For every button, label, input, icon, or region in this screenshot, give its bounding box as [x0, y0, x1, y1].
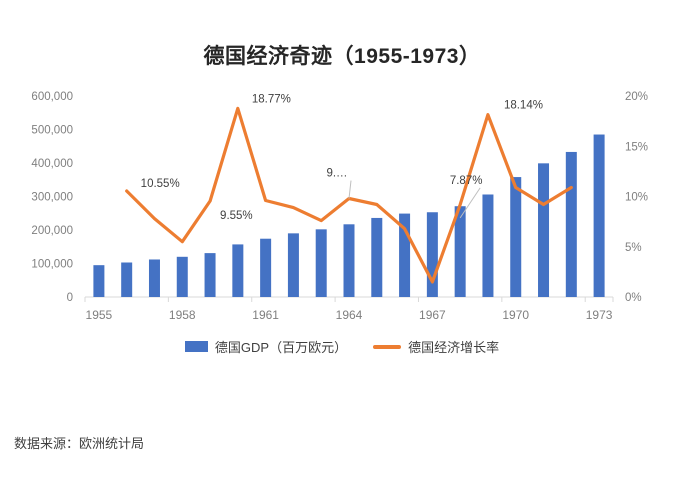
legend-item-growth-rate-label: 德国经济增长率 [408, 337, 499, 356]
bar-gdp-1970[interactable] [510, 177, 521, 297]
chart-container: 德国经济奇迹（1955-1973） 0100,000200,000300,000… [0, 0, 684, 483]
x-axis-tick-label: 1964 [336, 308, 363, 322]
y-axis-left-tick-label: 300,000 [31, 192, 73, 204]
x-axis-tick-label: 1973 [586, 308, 613, 322]
bar-gdp-1972[interactable] [566, 152, 577, 297]
bar-gdp-1958[interactable] [177, 257, 188, 297]
legend-item-gdp[interactable]: 德国GDP（百万欧元） [185, 337, 347, 356]
x-axis-tick-label: 1967 [419, 308, 446, 322]
data-label-1960: 18.77% [252, 93, 291, 105]
data-label-1964: 9.… [326, 168, 347, 180]
chart-legend: 德国GDP（百万欧元） 德国经济增长率 [0, 337, 684, 356]
x-axis-tick-label: 1961 [252, 308, 279, 322]
bar-gdp-1955[interactable] [93, 265, 104, 297]
y-axis-right-tick-label: 15% [625, 141, 648, 153]
bar-gdp-1959[interactable] [205, 253, 216, 297]
bar-gdp-1965[interactable] [371, 218, 382, 297]
y-axis-left: 0100,000200,000300,000400,000500,000600,… [31, 91, 73, 304]
data-label-leader-line [349, 181, 351, 199]
y-axis-right-tick-label: 5% [625, 242, 642, 254]
source-note: 数据来源：欧洲统计局 [14, 433, 144, 452]
y-axis-right-tick-label: 0% [625, 292, 642, 304]
bar-gdp-1962[interactable] [288, 233, 299, 297]
chart-plot-area: 0100,000200,000300,000400,000500,000600,… [0, 0, 684, 340]
bar-gdp-1973[interactable] [594, 135, 605, 297]
legend-line-swatch-icon [373, 345, 401, 349]
bar-gdp-1961[interactable] [260, 239, 271, 297]
bar-gdp-1960[interactable] [232, 244, 243, 297]
data-label-1969: 18.14% [504, 100, 543, 112]
bar-gdp-1967[interactable] [427, 212, 438, 297]
bar-gdp-1971[interactable] [538, 163, 549, 297]
x-axis-tick-label: 1958 [169, 308, 196, 322]
y-axis-left-tick-label: 600,000 [31, 91, 73, 103]
bar-gdp-1957[interactable] [149, 259, 160, 297]
bar-gdp-1963[interactable] [316, 229, 327, 297]
x-axis: 1955195819611964196719701973 [86, 308, 613, 322]
bar-gdp-1969[interactable] [482, 194, 493, 297]
y-axis-left-tick-label: 0 [67, 292, 73, 304]
y-axis-left-tick-label: 200,000 [31, 225, 73, 237]
axis-lines [85, 297, 613, 302]
data-label-1968: 7.87% [450, 175, 483, 187]
bar-gdp-1956[interactable] [121, 262, 132, 297]
y-axis-left-tick-label: 500,000 [31, 125, 73, 137]
y-axis-left-tick-label: 100,000 [31, 259, 73, 271]
legend-item-growth-rate[interactable]: 德国经济增长率 [373, 337, 499, 356]
y-axis-right-tick-label: 10% [625, 192, 648, 204]
legend-bar-swatch-icon [185, 341, 208, 352]
y-axis-left-tick-label: 400,000 [31, 158, 73, 170]
data-label-1956: 10.55% [141, 178, 180, 190]
y-axis-right-tick-label: 20% [625, 91, 648, 103]
y-axis-right: 0%5%10%15%20% [625, 91, 648, 304]
legend-item-gdp-label: 德国GDP（百万欧元） [215, 337, 347, 356]
x-axis-tick-label: 1970 [502, 308, 529, 322]
data-label-1959: 9.55% [220, 210, 253, 222]
bar-series-gdp [93, 135, 604, 297]
x-axis-tick-label: 1955 [86, 308, 113, 322]
bar-gdp-1964[interactable] [344, 224, 355, 297]
